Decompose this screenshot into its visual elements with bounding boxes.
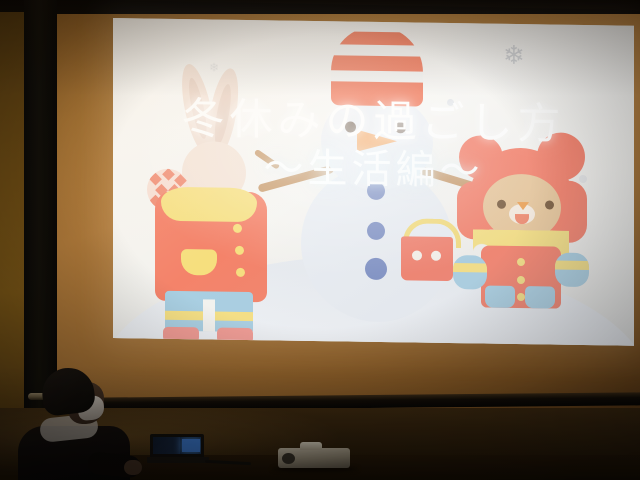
bear-button <box>517 258 525 266</box>
laptop-screen-highlight <box>182 439 200 452</box>
laptop-screen-content <box>153 437 180 454</box>
projection-screen: ❄ ❄ <box>113 18 634 346</box>
laptop[interactable] <box>150 434 208 464</box>
bucket-prop <box>401 218 453 281</box>
snowman-character <box>281 24 471 327</box>
bear-boot <box>485 286 515 308</box>
bear-button <box>517 276 525 284</box>
projector-lens-icon <box>282 453 295 464</box>
bear-mitten-left <box>453 255 487 290</box>
bear-eye <box>545 200 554 209</box>
snowman-button <box>367 182 385 200</box>
photo-scene: ❄ ❄ <box>0 0 640 480</box>
presenter-hand <box>124 460 142 475</box>
presentation-slide: ❄ ❄ <box>113 18 634 346</box>
rabbit-leg-gap <box>203 299 215 331</box>
snowman-button <box>367 222 385 240</box>
laptop-keyboard[interactable] <box>147 457 209 463</box>
projector[interactable] <box>278 442 350 468</box>
rabbit-collar <box>161 187 257 222</box>
rabbit-button <box>236 268 245 277</box>
snowflake-icon: ❄ <box>503 42 525 68</box>
bear-boot <box>525 286 555 308</box>
bear-eye <box>497 200 506 209</box>
presenter-hair <box>39 365 96 417</box>
laptop-screen[interactable] <box>153 437 201 454</box>
snowman-hat <box>331 25 423 106</box>
snowman-nose-icon <box>357 130 397 153</box>
rabbit-button <box>235 246 244 255</box>
presenter <box>12 368 140 480</box>
laptop-lid <box>150 434 204 458</box>
bucket-body <box>401 236 453 281</box>
bear-mitten-right <box>555 253 589 288</box>
bear-character <box>451 129 589 307</box>
bear-nose-icon <box>517 202 529 210</box>
bear-button <box>517 293 525 301</box>
snowman-eye <box>345 121 356 132</box>
projector-top <box>300 442 322 450</box>
snowman-button <box>365 258 387 280</box>
rabbit-button <box>233 224 242 233</box>
